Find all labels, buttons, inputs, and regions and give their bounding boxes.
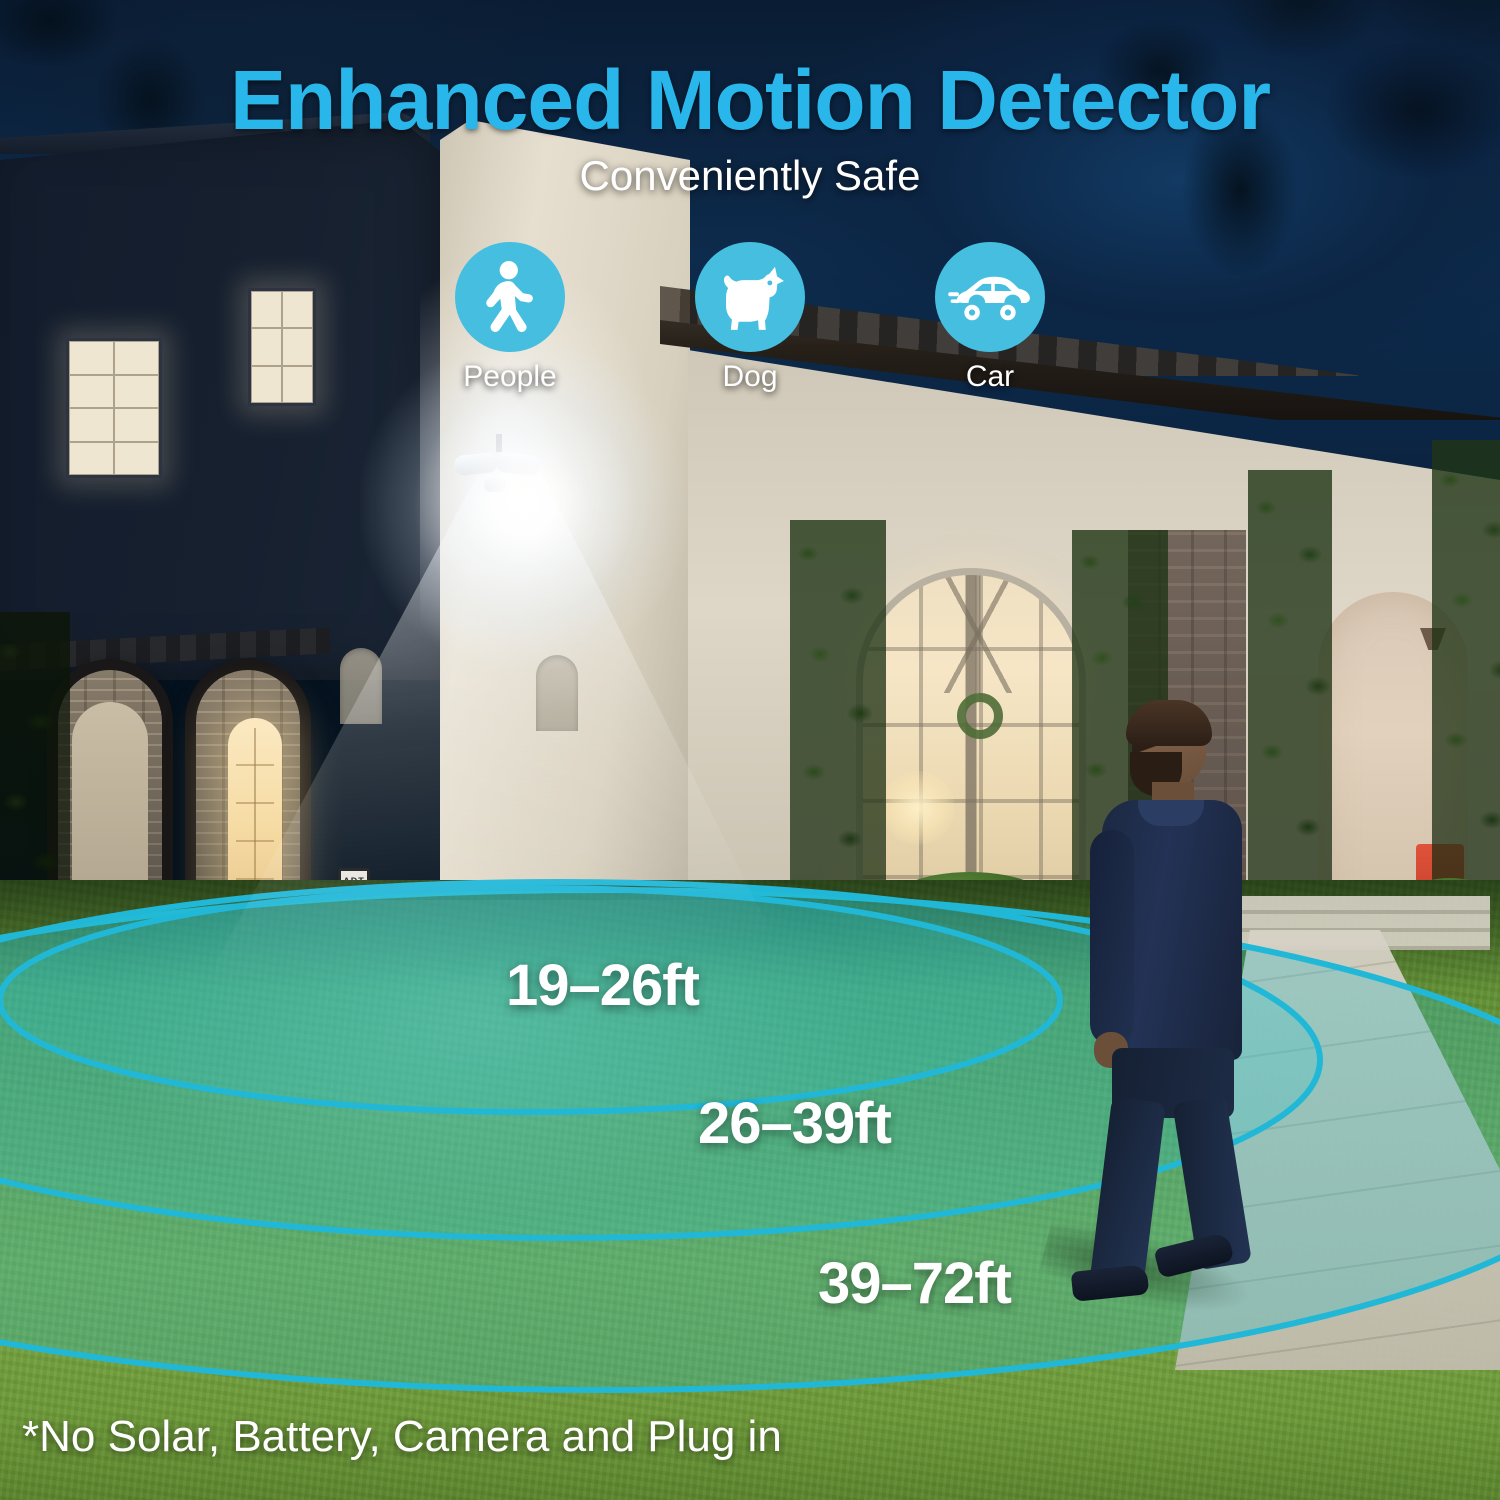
motion-floodlight-fixture xyxy=(452,448,552,496)
badge-dog: Dog xyxy=(686,242,814,394)
person-collar xyxy=(1138,800,1204,826)
person-figure xyxy=(1060,700,1270,1260)
arched-niche-shadowed xyxy=(340,648,382,724)
wreath-decoration xyxy=(957,693,1003,739)
badge-label-dog: Dog xyxy=(722,360,777,394)
badge-label-people: People xyxy=(463,360,556,394)
badge-circle-people xyxy=(455,242,565,352)
car-icon xyxy=(947,254,1033,340)
person-hair xyxy=(1126,700,1212,746)
page-subtitle: Conveniently Safe xyxy=(0,152,1500,200)
person-leg-back xyxy=(1090,1097,1166,1288)
floodlight-head-left xyxy=(453,452,499,476)
motion-sensor-module xyxy=(484,478,506,492)
zone-label-outer: 39–72ft xyxy=(818,1250,1011,1317)
pedestrian-icon xyxy=(471,258,549,336)
zone-label-inner: 19–26ft xyxy=(506,952,699,1019)
badge-circle-dog xyxy=(695,242,805,352)
detection-target-badges: People Dog xyxy=(0,242,1500,394)
dog-icon xyxy=(709,256,791,338)
floodlight-head-right xyxy=(495,452,541,476)
zone-label-middle: 26–39ft xyxy=(698,1090,891,1157)
ivy-column-4 xyxy=(1432,440,1500,940)
badge-circle-car xyxy=(935,242,1045,352)
badge-people: People xyxy=(446,242,574,394)
ivy-left xyxy=(0,612,70,912)
product-marketing-image: ADT xyxy=(0,0,1500,1500)
person-arm xyxy=(1090,830,1134,1046)
interior-lamp-glow xyxy=(881,771,955,845)
arched-niche-lit xyxy=(536,655,578,731)
footnote-disclaimer: *No Solar, Battery, Camera and Plug in xyxy=(22,1412,782,1462)
page-title: Enhanced Motion Detector xyxy=(0,52,1500,149)
ivy-column-1 xyxy=(790,520,886,940)
badge-label-car: Car xyxy=(966,360,1014,394)
badge-car: Car xyxy=(926,242,1054,394)
